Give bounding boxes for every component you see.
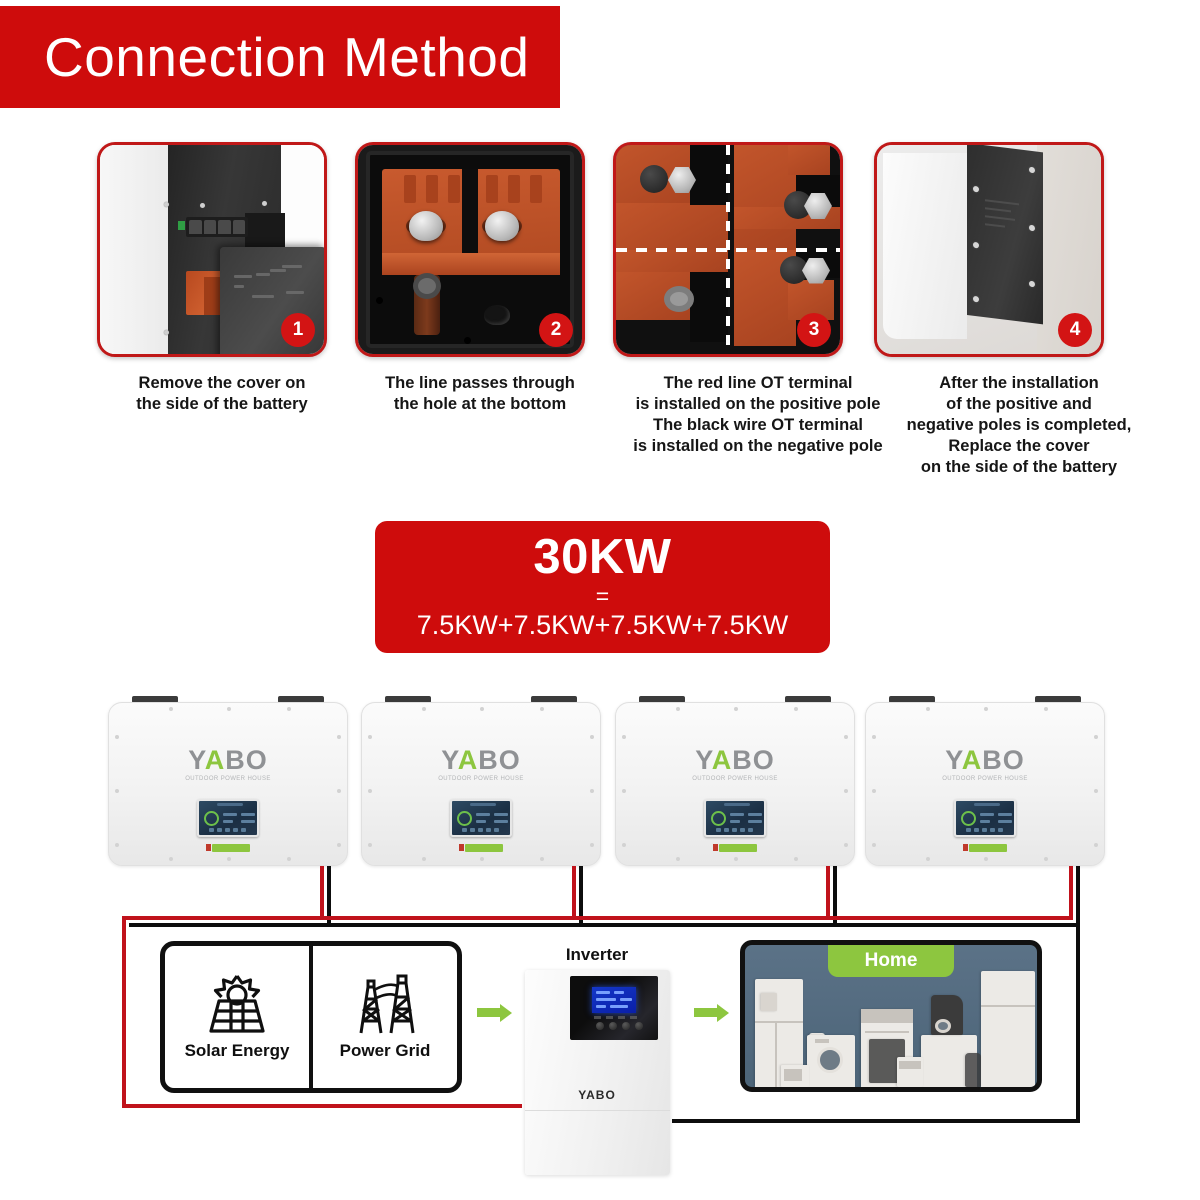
brand-tagline: OUTDOOR POWER HOUSE — [362, 776, 600, 782]
positive-wire-to-inverter — [122, 1104, 522, 1108]
step-caption-3: The red line OT terminal is installed on… — [613, 373, 903, 457]
step-caption-1: Remove the cover on the side of the batt… — [97, 373, 347, 415]
inverter-brand-logo: YABO — [525, 1088, 670, 1102]
appliance-microwave — [781, 1065, 809, 1087]
infographic-page: Connection Method — [0, 0, 1200, 1200]
appliance-stand-mixer — [931, 995, 963, 1035]
caption-line: The black wire OT terminal — [613, 415, 903, 436]
brand-suffix: BO — [596, 1088, 616, 1102]
battery-rating-label — [206, 843, 250, 852]
brand-prefix: Y — [945, 745, 962, 775]
brand-suffix: BO — [732, 745, 775, 775]
battery-brand-logo: YABO OUTDOOR POWER HOUSE — [866, 747, 1104, 782]
brand-accent-letter: A — [458, 745, 479, 775]
step-photo-2: 2 — [355, 142, 585, 357]
brand-suffix: BO — [478, 745, 521, 775]
capacity-total: 30KW — [533, 533, 671, 582]
negative-wire-to-inverter — [672, 1119, 1080, 1123]
battery-lcd-display[interactable] — [197, 799, 259, 837]
positive-wire-drop-2 — [572, 866, 576, 918]
cable-gland-cap — [484, 305, 510, 325]
power-grid-label: Power Grid — [340, 1041, 431, 1061]
positive-wire-drop-3 — [826, 866, 830, 918]
inverter-keypad[interactable] — [596, 1022, 643, 1030]
brand-prefix: Y — [188, 745, 205, 775]
battery-rating-label — [963, 843, 1007, 852]
inverter-label: Inverter — [517, 945, 677, 965]
negative-wire-right-riser — [1076, 923, 1080, 1123]
brand-prefix: Y — [695, 745, 712, 775]
capacity-breakdown: 7.5KW+7.5KW+7.5KW+7.5KW — [417, 610, 788, 641]
solar-energy-cell: Solar Energy — [165, 946, 313, 1088]
caption-line: The line passes through — [355, 373, 605, 394]
caption-line: on the side of the battery — [874, 457, 1164, 478]
brand-prefix: Y — [441, 745, 458, 775]
caption-line: the hole at the bottom — [355, 394, 605, 415]
caption-line: Replace the cover — [874, 436, 1164, 457]
battery-unit-1: YABO OUTDOOR POWER HOUSE — [108, 694, 348, 866]
solar-energy-label: Solar Energy — [185, 1041, 290, 1061]
step-badge: 4 — [1058, 313, 1092, 347]
step-card-1: 1 Remove the cover on the side of the ba… — [97, 142, 347, 415]
step-badge: 1 — [281, 313, 315, 347]
brand-tagline: OUTDOOR POWER HOUSE — [616, 776, 854, 782]
caption-line: is installed on the positive pole — [613, 394, 903, 415]
positive-bus-line — [122, 916, 1073, 920]
appliance-washing-machine — [807, 1035, 855, 1087]
energy-source-box: Solar Energy Power Grid — [160, 941, 462, 1093]
step-badge: 2 — [539, 313, 573, 347]
brand-accent-letter: A — [586, 1088, 596, 1102]
battery-brand-logo: YABO OUTDOOR POWER HOUSE — [109, 747, 347, 782]
battery-lcd-display[interactable] — [954, 799, 1016, 837]
home-load-panel: Home — [740, 940, 1042, 1092]
positive-wire-left-riser — [122, 916, 126, 1108]
inverter-lcd-screen[interactable] — [592, 987, 636, 1013]
battery-lcd-display[interactable] — [450, 799, 512, 837]
caption-line: The red line OT terminal — [613, 373, 903, 394]
step-card-3: 3 The red line OT terminal is installed … — [613, 142, 903, 457]
step-photo-3: 3 — [613, 142, 843, 357]
caption-line: of the positive and — [874, 394, 1164, 415]
home-badge: Home — [828, 945, 954, 977]
caption-line: is installed on the negative pole — [613, 436, 903, 457]
capacity-equals: = — [596, 584, 609, 609]
battery-rating-label — [713, 843, 757, 852]
brand-accent-letter: A — [205, 745, 226, 775]
battery-rating-label — [459, 843, 503, 852]
battery-brand-logo: YABO OUTDOOR POWER HOUSE — [362, 747, 600, 782]
appliance-tall-fridge — [981, 971, 1035, 1087]
battery-lcd-display[interactable] — [704, 799, 766, 837]
caption-line: Remove the cover on — [97, 373, 347, 394]
solar-panel-icon — [201, 973, 273, 1035]
battery-unit-2: YABO OUTDOOR POWER HOUSE — [361, 694, 601, 866]
step-photo-4: 4 — [874, 142, 1104, 357]
divider-dashed-horizontal — [616, 248, 840, 252]
appliance-coffee-maker — [897, 1057, 923, 1087]
negative-wire-drop-4 — [1076, 866, 1080, 926]
positive-wire-drop-4 — [1069, 866, 1073, 918]
step-badge: 3 — [797, 313, 831, 347]
inverter-unit: Inverter YABO — [517, 945, 677, 1175]
brand-suffix: BO — [982, 745, 1025, 775]
capacity-banner: 30KW = 7.5KW+7.5KW+7.5KW+7.5KW — [375, 521, 830, 653]
battery-cover-panel — [967, 143, 1043, 324]
power-grid-tower-icon — [347, 973, 423, 1035]
caption-line: negative poles is completed, — [874, 415, 1164, 436]
caption-line: After the installation — [874, 373, 1164, 394]
brand-prefix: Y — [578, 1088, 586, 1102]
caption-line: the side of the battery — [97, 394, 347, 415]
brand-accent-letter: A — [712, 745, 733, 775]
battery-brand-logo: YABO OUTDOOR POWER HOUSE — [616, 747, 854, 782]
power-grid-cell: Power Grid — [313, 946, 457, 1088]
inverter-front-panel — [570, 976, 658, 1040]
step-photo-1: 1 — [97, 142, 327, 357]
step-card-2: 2 The line passes through the hole at th… — [355, 142, 605, 415]
step-card-4: 4 After the installation of the positive… — [874, 142, 1164, 478]
brand-accent-letter: A — [962, 745, 983, 775]
battery-unit-4: YABO OUTDOOR POWER HOUSE — [865, 694, 1105, 866]
step-caption-2: The line passes through the hole at the … — [355, 373, 605, 415]
negative-bus-line — [129, 923, 1080, 927]
page-title: Connection Method — [0, 25, 529, 89]
step-caption-4: After the installation of the positive a… — [874, 373, 1164, 478]
brand-suffix: BO — [225, 745, 268, 775]
appliance-vacuum — [965, 1053, 981, 1087]
brand-tagline: OUTDOOR POWER HOUSE — [866, 776, 1104, 782]
brand-tagline: OUTDOOR POWER HOUSE — [109, 776, 347, 782]
battery-unit-3: YABO OUTDOOR POWER HOUSE — [615, 694, 855, 866]
positive-wire-drop-1 — [320, 866, 324, 918]
header-banner: Connection Method — [0, 6, 560, 108]
